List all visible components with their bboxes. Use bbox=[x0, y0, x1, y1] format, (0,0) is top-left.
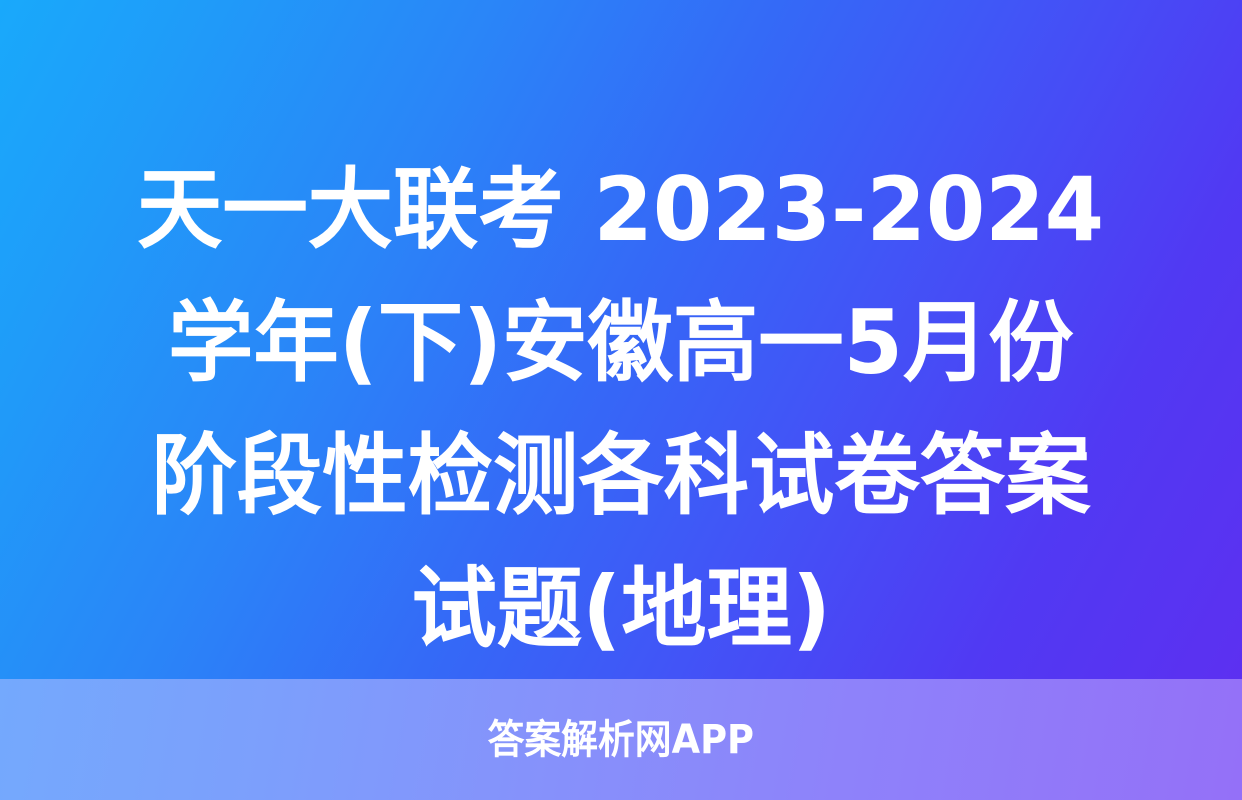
title-line-1: 天一大联考 2023-2024 bbox=[137, 143, 1104, 276]
poster-banner: 天一大联考 2023-2024 学年(下)安徽高一5月份 阶段性检测各科试卷答案… bbox=[0, 0, 1242, 800]
footer-band: 答案解析网APP bbox=[0, 679, 1242, 800]
title-line-2: 学年(下)安徽高一5月份 bbox=[168, 276, 1074, 409]
title-line-3: 阶段性检测各科试卷答案 bbox=[152, 409, 1091, 542]
app-watermark-label: 答案解析网APP bbox=[488, 718, 754, 762]
headline-block: 天一大联考 2023-2024 学年(下)安徽高一5月份 阶段性检测各科试卷答案… bbox=[0, 0, 1242, 679]
title-line-4: 试题(地理) bbox=[411, 542, 830, 675]
